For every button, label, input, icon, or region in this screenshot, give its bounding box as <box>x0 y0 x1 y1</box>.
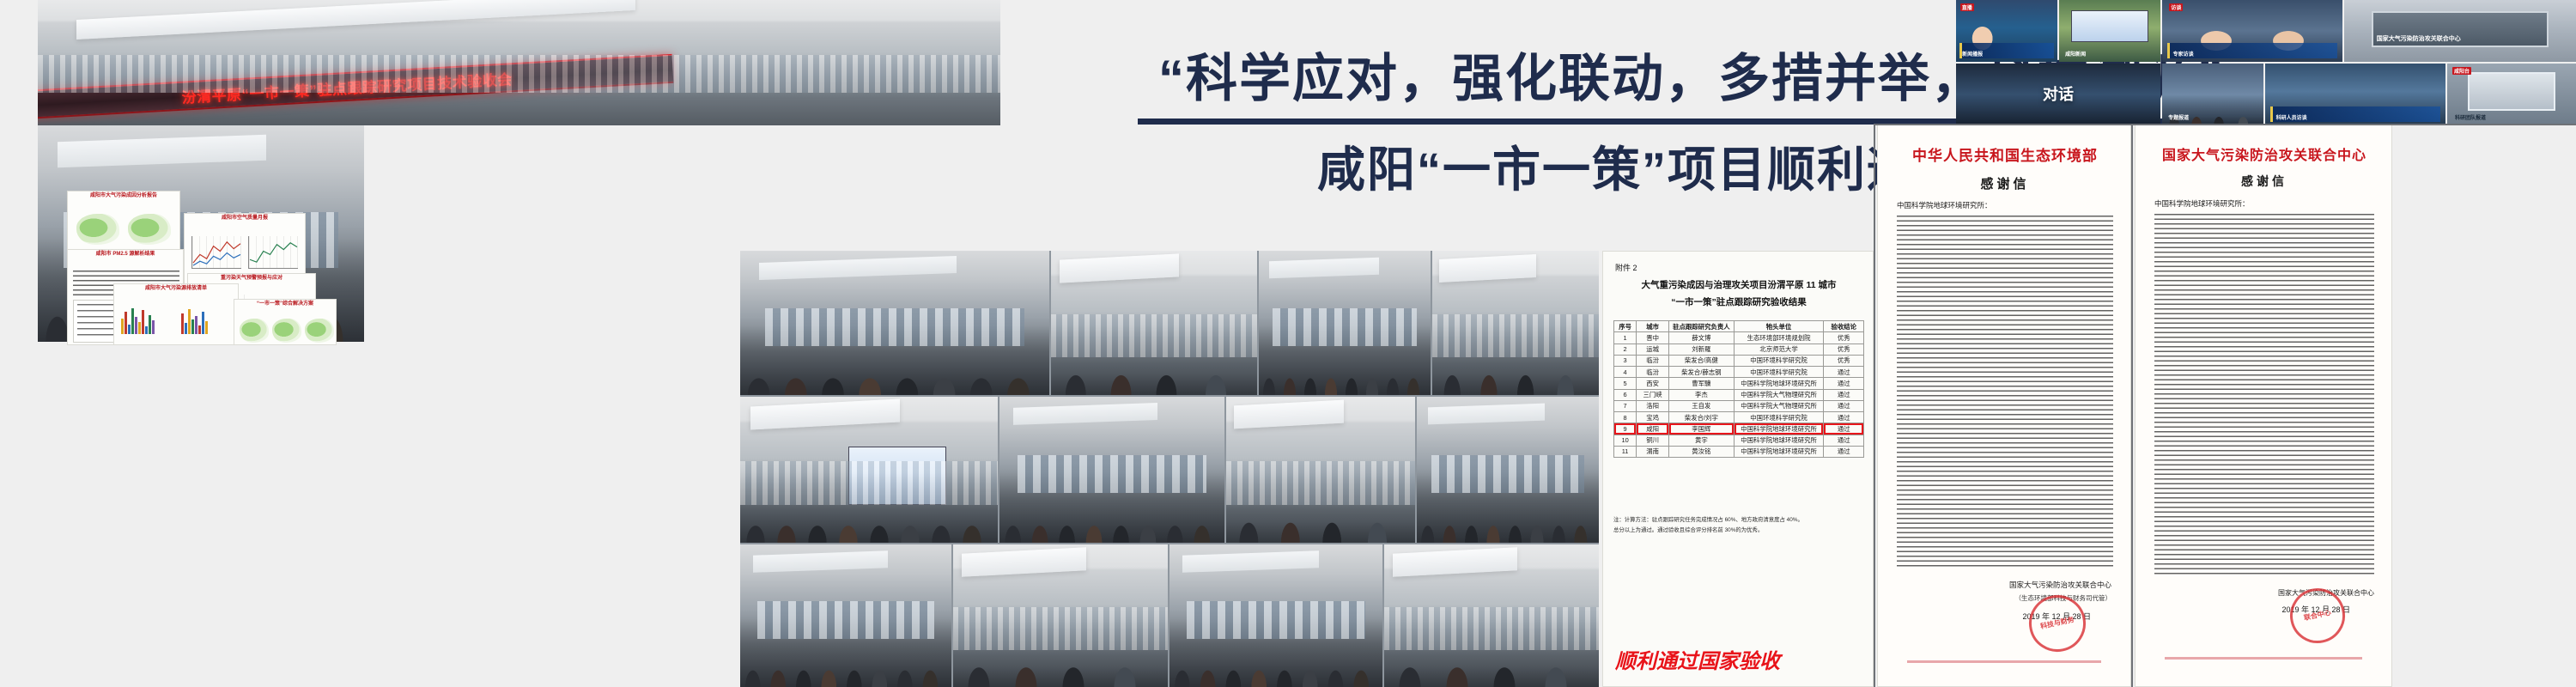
cell-lead: 柴发合/刘宇 <box>1669 412 1735 423</box>
tv-badge-2: 访谈 <box>2169 3 2183 11</box>
table-row: 8宝鸡柴发合/刘宇中国环境科学研究院通过 <box>1614 412 1864 423</box>
col-city: 城市 <box>1637 321 1669 332</box>
tv-cell-2: 访谈 专家访谈 <box>2162 0 2342 62</box>
tv-badge-7: 咸阳台 <box>2452 67 2471 75</box>
poster-policy-title: “一市一策”综合解决方案 <box>234 300 336 307</box>
col-org: 牠头单位 <box>1734 321 1824 332</box>
table-row: 3临汾柴发合/高健中国环境科学研究院优秀 <box>1614 355 1864 366</box>
table-row: 6三门峡李杰中国科学院大气物理研究所通过 <box>1614 389 1864 400</box>
cell-lead: 刘新羅 <box>1669 343 1735 355</box>
results-footnote-line1: 注：计算方法：驻点跟踪研究任务完成情况占 60%、地方政府清意度占 40%。 <box>1613 516 1868 524</box>
cell-no: 4 <box>1614 367 1637 378</box>
cell-no: 2 <box>1614 343 1637 355</box>
cell-city: 咸阳 <box>1637 423 1669 435</box>
photo-mosaic-10 <box>953 544 1168 687</box>
tv-caption-2: 专家访谈 <box>2173 50 2194 58</box>
results-footnote-line2: 总分以上为通过。通过验收且综合评分排名前 30%的为优秀。 <box>1613 526 1868 534</box>
photo-mosaic-5 <box>740 397 998 543</box>
letter-center-body <box>2154 214 2374 575</box>
tv-caption-7: 科研团队报道 <box>2455 113 2486 121</box>
cell-lead: 李杰 <box>1669 389 1735 400</box>
col-result: 验收结论 <box>1824 321 1864 332</box>
cell-result: 优秀 <box>1824 343 1864 355</box>
table-row: 5西安曹军驥中国科学院地球环境研究所通过 <box>1614 378 1864 389</box>
cell-lead: 曹军驥 <box>1669 378 1735 389</box>
cell-lead: 黄汝铭 <box>1669 446 1735 457</box>
cell-city: 洛阳 <box>1637 400 1669 411</box>
cell-org: 中国科学院大气物理研究所 <box>1734 400 1824 411</box>
table-row: 11渭南黄汝铭中国科学院地球环境研究所通过 <box>1614 446 1864 457</box>
cell-city: 宝鸡 <box>1637 412 1669 423</box>
cell-result: 优秀 <box>1824 332 1864 343</box>
photo-mosaic-2 <box>1051 251 1257 395</box>
mini-bar-chart-3 <box>181 307 208 334</box>
table-row: 10铜川黄宇中国科学院地球环境研究所通过 <box>1614 435 1864 446</box>
letter-moee-org: 中华人民共和国生态环境部 <box>1885 143 2125 165</box>
tv-cell-3: 国家大气污染防治攻关联合中心 <box>2344 0 2576 62</box>
table-row: 4临汾柴发合/薛志钢中国环境科学研究院通过 <box>1614 367 1864 378</box>
tv-caption-5: 专题报道 <box>2168 113 2189 121</box>
cell-city: 运城 <box>1637 343 1669 355</box>
poster-emission-list: 咸阳市大气污染源排放清单 <box>113 283 239 345</box>
tv-news-grid: 直播 新闻播报 咸阳新闻 访谈 专家访谈 国家大气污染防治攻关联合中心 对话 专 <box>1956 0 2576 125</box>
cell-result: 通过 <box>1824 389 1864 400</box>
photo-mosaic-9 <box>740 544 951 687</box>
cell-org: 生态环境部环境规划院 <box>1734 332 1824 343</box>
results-table-header-row: 序号 城市 驻点跟踪研究负责人 牠头单位 验收结论 <box>1614 321 1864 332</box>
table-row: 9咸阳李国辉中国科学院地球环境研究所通过 <box>1614 423 1864 435</box>
cell-no: 10 <box>1614 435 1637 446</box>
tv-cell-5: 专题报道 <box>2162 64 2263 125</box>
cell-org: 中国科学院大气物理研究所 <box>1734 389 1824 400</box>
cell-lead: 柴发合/高健 <box>1669 355 1735 366</box>
bottom-caption: 顺利通过国家验收 <box>1615 644 1780 674</box>
results-document: 附件 2 大气重污染成因与治理攻关项目汾渭平原 11 城市 “一市一策”驻点跟踪… <box>1602 251 1874 687</box>
letter-moee: 中华人民共和国生态环境部 感谢信 中国科学院地球环境研究所： 国家大气污染防治攻… <box>1877 124 2131 687</box>
cell-city: 西安 <box>1637 378 1669 389</box>
poster-pm25-source-title: 咸阳市 PM2.5 源解析结果 <box>68 250 183 258</box>
photo-mosaic-1 <box>740 251 1049 395</box>
divider-mid <box>2131 124 2133 687</box>
results-table: 序号 城市 驻点跟踪研究负责人 牠头单位 验收结论 1晋中薛文博生态环境部环境规… <box>1613 320 1864 458</box>
cell-city: 三门峡 <box>1637 389 1669 400</box>
cell-result: 通过 <box>1824 423 1864 435</box>
cell-city: 临汾 <box>1637 355 1669 366</box>
cell-org: 中国环境科学研究院 <box>1734 355 1824 366</box>
cell-city: 渭南 <box>1637 446 1669 457</box>
photo-mosaic-12 <box>1384 544 1599 687</box>
cell-org: 中国科学院地球环境研究所 <box>1734 423 1824 435</box>
cell-org: 中国环境科学研究院 <box>1734 412 1824 423</box>
photo-mosaic <box>740 251 1599 687</box>
table-row: 7洛阳王自发中国科学院大气物理研究所通过 <box>1614 400 1864 411</box>
results-title-line2: “一市一策”驻点跟踪研究验收结果 <box>1613 296 1864 310</box>
tv-cell-0: 直播 新闻播报 <box>1956 0 2057 62</box>
letter-moee-salutation: 中国科学院地球环境研究所： <box>1897 200 1992 210</box>
cell-no: 6 <box>1614 389 1637 400</box>
cell-org: 中国科学院地球环境研究所 <box>1734 435 1824 446</box>
results-title-line1: 大气重污染成因与治理攻关项目汾渭平原 11 城市 <box>1613 279 1864 293</box>
cell-no: 8 <box>1614 412 1637 423</box>
cell-no: 7 <box>1614 400 1637 411</box>
cell-no: 11 <box>1614 446 1637 457</box>
cell-org: 北京师范大学 <box>1734 343 1824 355</box>
cell-result: 优秀 <box>1824 355 1864 366</box>
letter-center-heading: 感谢信 <box>2141 173 2388 190</box>
mini-bar-chart-2 <box>121 307 155 334</box>
annex-label: 附件 2 <box>1615 262 1637 273</box>
photo-mosaic-7 <box>1226 397 1415 543</box>
tv-cell-1: 咸阳新闻 <box>2059 0 2160 62</box>
col-lead: 驻点跟踪研究负责人 <box>1669 321 1735 332</box>
table-row: 2运城刘新羅北京师范大学优秀 <box>1614 343 1864 355</box>
poster-monthly-brief-title: 咸阳市空气质量月报 <box>185 214 305 222</box>
slide-canvas: 汾渭平原“一市一策”驻点跟踪研究项目技术验收会 咸阳市大气污染成因分析报告 咸阳… <box>0 0 2576 687</box>
cell-lead: 黄宇 <box>1669 435 1735 446</box>
photo-mosaic-4 <box>1432 251 1599 395</box>
cell-city: 铜川 <box>1637 435 1669 446</box>
table-row: 1晋中薛文博生态环境部环境规划院优秀 <box>1614 332 1864 343</box>
letter-moee-rule <box>1907 660 2101 663</box>
poster-policy: “一市一策”综合解决方案 <box>234 299 337 345</box>
letter-center-org: 国家大气污染防治攻关联合中心 <box>2141 143 2388 164</box>
cell-result: 通过 <box>1824 400 1864 411</box>
tv-caption-6: 科研人员访谈 <box>2276 113 2307 121</box>
photo-main-meeting: 汾渭平原“一市一策”驻点跟踪研究项目技术验收会 <box>38 0 1001 125</box>
poster-forecast-title: 重污染天气预警预报与应对 <box>188 274 315 282</box>
photo-mosaic-11 <box>1170 544 1382 687</box>
cell-result: 通过 <box>1824 367 1864 378</box>
letter-moee-body <box>1897 216 2113 568</box>
cell-no: 1 <box>1614 332 1637 343</box>
cell-lead: 薛文博 <box>1669 332 1735 343</box>
cell-lead: 王自发 <box>1669 400 1735 411</box>
cell-result: 通过 <box>1824 435 1864 446</box>
col-no: 序号 <box>1614 321 1637 332</box>
tv-cell-7: 咸阳台 科研团队报道 <box>2447 64 2576 125</box>
tv-caption-1: 咸阳新闻 <box>2065 50 2086 58</box>
letter-moee-signature: 国家大气污染防治攻关联合中心 <box>2009 580 2111 590</box>
cell-org: 中国科学院地球环境研究所 <box>1734 378 1824 389</box>
photo-mosaic-3 <box>1259 251 1431 395</box>
photo-mosaic-6 <box>999 397 1224 543</box>
tv-badge-0: 直播 <box>1960 3 1974 11</box>
tv-center-logo: 对话 <box>2043 82 2074 105</box>
letter-moee-heading: 感谢信 <box>1885 174 2125 192</box>
cell-city: 临汾 <box>1637 367 1669 378</box>
tv-caption-3: 国家大气污染防治攻关联合中心 <box>2377 34 2461 43</box>
letter-center-rule <box>2165 657 2362 660</box>
cell-lead: 柴发合/薛志钢 <box>1669 367 1735 378</box>
divider-top-right <box>1874 124 2576 125</box>
photo-mosaic-8 <box>1417 397 1599 543</box>
cell-no: 5 <box>1614 378 1637 389</box>
divider-left <box>1874 124 1875 687</box>
cell-result: 通过 <box>1824 378 1864 389</box>
cell-city: 晋中 <box>1637 332 1669 343</box>
tv-caption-0: 新闻播报 <box>1962 50 1983 58</box>
tv-cell-6: 科研人员访谈 <box>2265 64 2445 125</box>
cell-no: 3 <box>1614 355 1637 366</box>
letter-center: 国家大气污染防治攻关联合中心 感谢信 中国科学院地球环境研究所： 国家大气污染防… <box>2135 124 2392 687</box>
mini-line-chart-1 <box>192 236 241 268</box>
poster-emission-list-title: 咸阳市大气污染源排放清单 <box>114 284 238 292</box>
cell-org: 中国环境科学研究院 <box>1734 367 1824 378</box>
letter-center-salutation: 中国科学院地球环境研究所： <box>2154 198 2250 209</box>
tv-cell-4: 对话 <box>1956 64 2160 125</box>
cell-no: 9 <box>1614 423 1637 435</box>
poster-aqi-report-title: 咸阳市大气污染成因分析报告 <box>68 192 179 199</box>
cell-result: 通过 <box>1824 412 1864 423</box>
mini-line-chart-2 <box>249 236 298 268</box>
cell-result: 通过 <box>1824 446 1864 457</box>
cell-lead: 李国辉 <box>1669 423 1735 435</box>
cell-org: 中国科学院地球环境研究所 <box>1734 446 1824 457</box>
